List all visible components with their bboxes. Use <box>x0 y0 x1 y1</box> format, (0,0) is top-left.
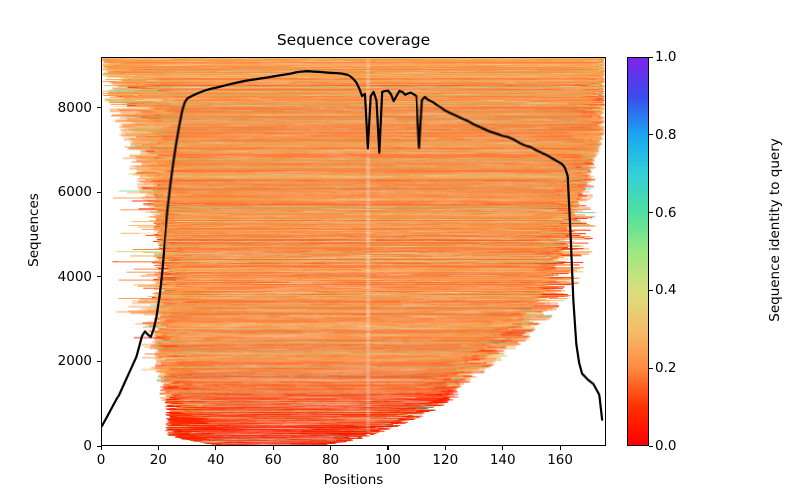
x-tick-label-140: 140 <box>473 452 533 468</box>
x-tick-label-0: 0 <box>71 452 131 468</box>
colorbar-tick-label-0.2: 0.2 <box>655 360 676 376</box>
figure-canvas: Sequence coverage 020406080100120140160 … <box>0 0 800 500</box>
colorbar-tick-1.0 <box>649 57 653 58</box>
y-tick-4000 <box>97 276 101 277</box>
x-tick-label-160: 160 <box>530 452 590 468</box>
x-tick-label-20: 20 <box>128 452 188 468</box>
colorbar-tick-0.4 <box>649 290 653 291</box>
y-tick-label-2000: 2000 <box>22 353 92 369</box>
colorbar-tick-0.6 <box>649 212 653 213</box>
y-tick-label-0: 0 <box>22 438 92 454</box>
colorbar-tick-0.8 <box>649 134 653 135</box>
x-axis-label: Positions <box>101 472 606 488</box>
colorbar[interactable] <box>627 57 649 446</box>
x-tick-0 <box>101 446 102 450</box>
x-tick-100 <box>387 446 388 450</box>
colorbar-tick-label-0.0: 0.0 <box>655 438 676 454</box>
x-tick-label-80: 80 <box>301 452 361 468</box>
main-plot-area[interactable] <box>101 57 606 446</box>
x-tick-20 <box>158 446 159 450</box>
y-tick-6000 <box>97 192 101 193</box>
x-tick-120 <box>445 446 446 450</box>
colorbar-tick-0.2 <box>649 368 653 369</box>
x-tick-label-60: 60 <box>243 452 303 468</box>
msa-coverage-canvas <box>102 58 605 445</box>
colorbar-tick-0.0 <box>649 446 653 447</box>
x-tick-80 <box>330 446 331 450</box>
colorbar-gradient <box>628 58 648 445</box>
colorbar-tick-label-0.4: 0.4 <box>655 282 676 298</box>
x-tick-label-100: 100 <box>358 452 418 468</box>
y-tick-8000 <box>97 107 101 108</box>
y-tick-0 <box>97 446 101 447</box>
y-tick-label-8000: 8000 <box>22 100 92 116</box>
x-tick-label-40: 40 <box>186 452 246 468</box>
colorbar-label: Sequence identity to query <box>767 80 783 380</box>
y-axis-label: Sequences <box>26 150 42 310</box>
x-tick-140 <box>502 446 503 450</box>
colorbar-tick-label-1.0: 1.0 <box>655 49 676 65</box>
x-tick-40 <box>215 446 216 450</box>
x-tick-label-120: 120 <box>415 452 475 468</box>
x-tick-160 <box>560 446 561 450</box>
colorbar-tick-label-0.8: 0.8 <box>655 127 676 143</box>
x-tick-60 <box>273 446 274 450</box>
page-title: Sequence coverage <box>101 30 606 50</box>
y-tick-2000 <box>97 361 101 362</box>
colorbar-tick-label-0.6: 0.6 <box>655 205 676 221</box>
